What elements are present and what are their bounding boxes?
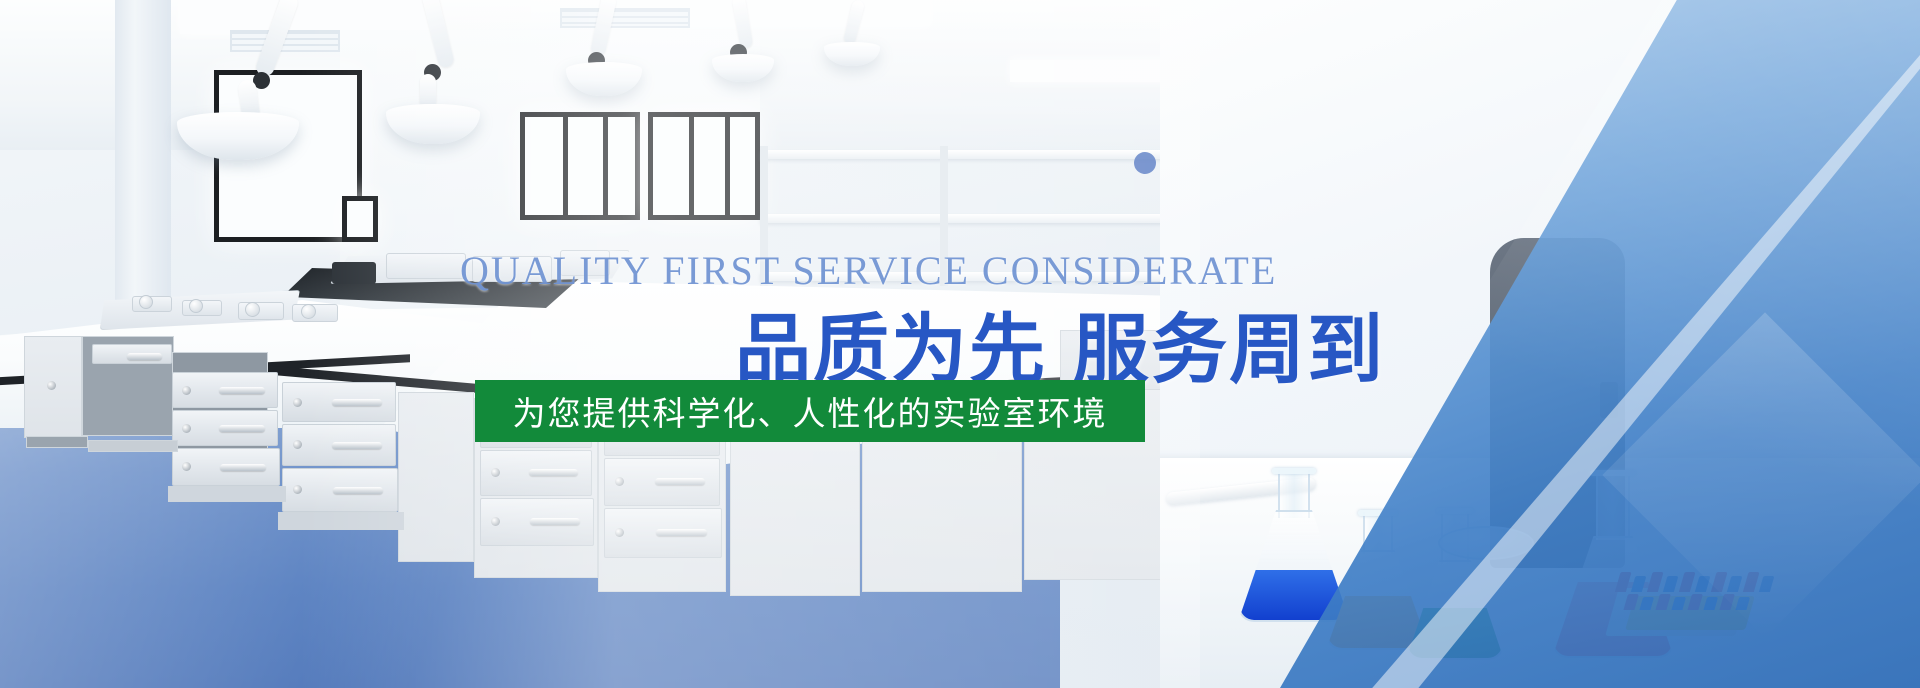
subtitle-text: 为您提供科学化、人性化的实验室环境 — [513, 387, 1108, 435]
banner-copy: QUALITY FIRST SERVICE CONSIDERATE 品质为先服务… — [0, 0, 1920, 688]
subtitle-green-bar: 为您提供科学化、人性化的实验室环境 — [475, 380, 1145, 442]
hero-banner: QUALITY FIRST SERVICE CONSIDERATE 品质为先服务… — [0, 0, 1920, 688]
english-tagline: QUALITY FIRST SERVICE CONSIDERATE — [460, 247, 1277, 294]
